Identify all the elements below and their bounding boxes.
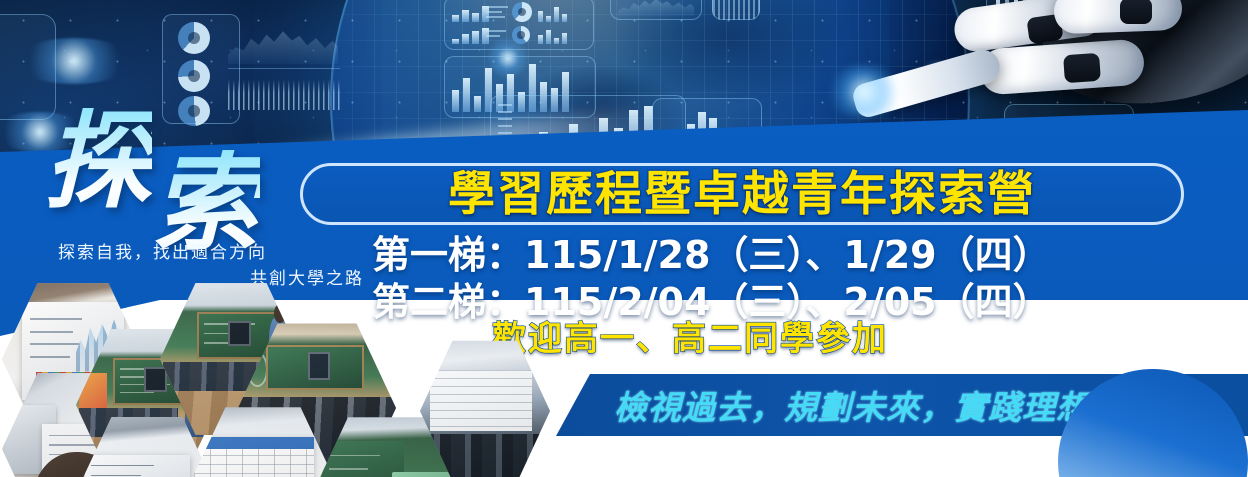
photo-detail: [308, 352, 330, 380]
photo-detail: [322, 441, 404, 477]
fingertip-glow: [824, 66, 904, 118]
photo-detail: [30, 331, 73, 333]
bar-chart-icon: [452, 28, 489, 44]
photo-detail: [266, 345, 364, 391]
event-title: 學習歷程暨卓越青年探索營: [448, 171, 1036, 218]
photo-detail: [392, 472, 456, 477]
pie-chart-icon: [512, 2, 532, 22]
tagline: 檢視過去，規劃未來，實踐理想: [614, 381, 1090, 429]
bar-chart-icon: [452, 4, 489, 22]
bar-chart-icon: [538, 4, 567, 22]
robot-knuckle: [1063, 53, 1101, 83]
photo-detail: [5, 405, 56, 475]
audience-note: 歡迎高一、高二同學參加: [492, 322, 888, 356]
photo-detail: [30, 318, 81, 320]
brand-headline: 探 索: [44, 108, 344, 238]
promo-banner: 探 索 探索自我，找出適合方向 共創大學之路 學習歷程暨卓越青年探索營 第一梯：…: [0, 0, 1248, 477]
divider: [228, 68, 340, 69]
pie-chart-icon: [512, 26, 530, 44]
robot-finger: [1053, 0, 1182, 34]
subtitle-line-1: 探索自我，找出適合方向: [58, 240, 368, 266]
hud-label: [486, 6, 508, 18]
photo-detail: [430, 370, 531, 431]
photo-detail: [194, 437, 314, 477]
session-1: 第一梯：115/1/28（三）、1/29（四）: [372, 236, 1051, 274]
photo-detail: [30, 356, 70, 358]
photo-detail: [228, 321, 251, 346]
headline-char-1: 探: [44, 108, 152, 216]
photo-detail: [144, 367, 167, 392]
photo-collage: [0, 286, 532, 477]
event-title-pill: 學習歷程暨卓越青年探索營: [300, 163, 1184, 225]
photo-detail: [194, 437, 314, 449]
hud-label: [486, 30, 508, 37]
data-grid-icon: [712, 0, 760, 20]
pie-chart-icon: [178, 22, 210, 54]
photo-detail: [30, 343, 78, 345]
pie-chart-icon: [178, 60, 210, 92]
sparkline-chart-icon: [228, 72, 340, 110]
photo-detail: [85, 455, 190, 477]
bar-chart-icon: [538, 28, 567, 44]
robot-knuckle: [1120, 0, 1152, 24]
